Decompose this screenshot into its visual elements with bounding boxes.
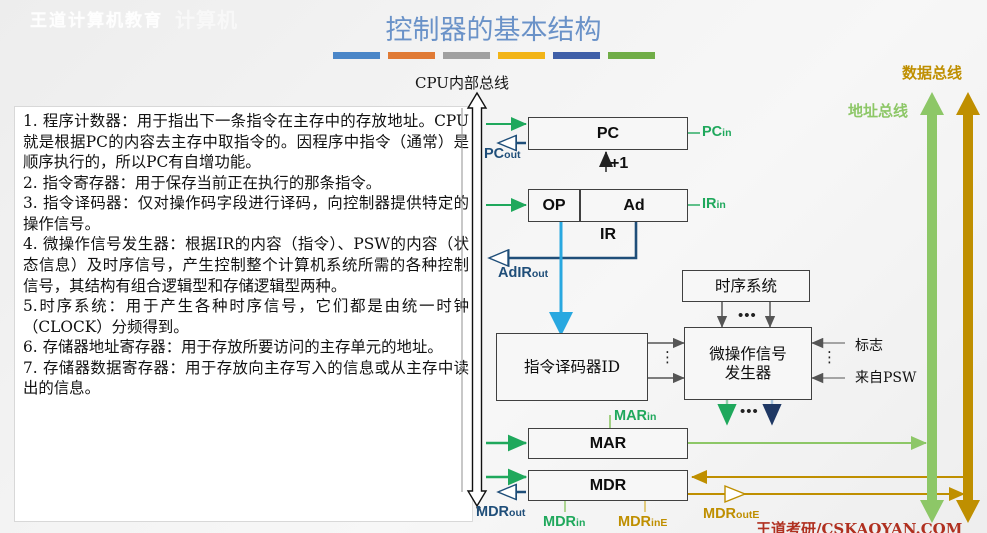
- scrollbar-thumb[interactable]: [473, 106, 481, 406]
- slide-canvas: 王道计算机教育 计算机 控制器的基本结构 CPU内部总线 地址总线 数据总线 1…: [0, 0, 987, 533]
- title-color-rule: [333, 52, 655, 59]
- block-microop-signal-generator[interactable]: 微操作信号 发生器: [684, 327, 812, 400]
- ellipsis-decoder-to-microop: ⋮: [660, 352, 674, 364]
- note-item: 5.时序系统：用于产生各种时序信号，它们都是由统一时钟（CLOCK）分频得到。: [23, 296, 469, 337]
- ellipsis-microop-outputs: •••: [740, 404, 759, 419]
- rule-seg-5: [553, 52, 600, 59]
- signal-label-pcout: PCout: [484, 146, 520, 162]
- signal-label-irin: IRin: [702, 196, 726, 212]
- data-bus-arrow: [956, 92, 980, 523]
- block-pc[interactable]: PC: [528, 117, 688, 150]
- flag-label: 标志: [855, 335, 883, 355]
- from-psw-label: 来自PSW: [855, 367, 916, 387]
- rule-seg-1: [333, 52, 380, 59]
- note-item: 7. 存储器数据寄存器：用于存放向主存写入的信息或从主存中读出的信息。: [23, 358, 469, 399]
- rule-seg-4: [498, 52, 545, 59]
- block-mar[interactable]: MAR: [528, 428, 688, 459]
- cpu-internal-bus-label: CPU内部总线: [415, 72, 509, 93]
- note-item: 6. 存储器地址寄存器：用于存放所要访问的主存单元的地址。: [23, 337, 469, 358]
- signal-label-adirout: AdIRout: [498, 265, 548, 281]
- pc-increment-label: +1: [610, 155, 628, 173]
- rule-seg-2: [388, 52, 435, 59]
- block-timing-system[interactable]: 时序系统: [682, 270, 810, 302]
- adirout-gate-icon: [489, 250, 508, 266]
- mdrout-gate-icon: [498, 485, 516, 500]
- note-item: 1. 程序计数器：用于指出下一条指令在主存中的存放地址。CPU就是根据PC的内容…: [23, 111, 469, 173]
- address-bus-arrow: [920, 92, 944, 523]
- block-instruction-decoder[interactable]: 指令译码器ID: [496, 333, 648, 401]
- note-item: 2. 指令寄存器：用于保存当前正在执行的那条指令。: [23, 173, 469, 194]
- microop-line-1: 微操作信号: [709, 345, 787, 363]
- mdroute-gate-icon: [725, 486, 745, 502]
- signal-label-mdrout: MDRout: [476, 504, 525, 520]
- rule-seg-3: [443, 52, 490, 59]
- data-bus-label: 数据总线: [902, 62, 962, 83]
- block-op[interactable]: OP: [528, 189, 580, 222]
- signal-label-marin: MARin: [614, 408, 656, 424]
- page-title: 控制器的基本结构: [0, 8, 987, 47]
- signal-label-mdroute: MDRoutE: [703, 506, 759, 522]
- signal-label-mdrin: MDRin: [543, 514, 585, 530]
- address-bus-label: 地址总线: [848, 100, 908, 121]
- signal-label-mdrine: MDRinE: [618, 514, 667, 530]
- notes-scrollbar[interactable]: ▼: [472, 106, 481, 522]
- block-ir-label: IR: [580, 222, 636, 247]
- rule-seg-6: [608, 52, 655, 59]
- ellipsis-timing-to-microop: •••: [738, 308, 757, 323]
- microop-line-2: 发生器: [725, 364, 772, 382]
- notes-panel: 1. 程序计数器：用于指出下一条指令在主存中的存放地址。CPU就是根据PC的内容…: [14, 106, 480, 522]
- block-ad[interactable]: Ad: [580, 189, 688, 222]
- footer-watermark: 王道考研/CSKAOYAN.COM: [756, 518, 962, 533]
- note-item: 4. 微操作信号发生器：根据IR的内容（指令）、PSW的内容（状态信息）及时序信…: [23, 234, 469, 296]
- block-mdr[interactable]: MDR: [528, 470, 688, 501]
- note-item: 3. 指令译码器：仅对操作码字段进行译码，向控制器提供特定的操作信号。: [23, 193, 469, 234]
- ellipsis-psw-inputs: ⋮: [822, 352, 836, 364]
- signal-label-pcin: PCin: [702, 124, 732, 140]
